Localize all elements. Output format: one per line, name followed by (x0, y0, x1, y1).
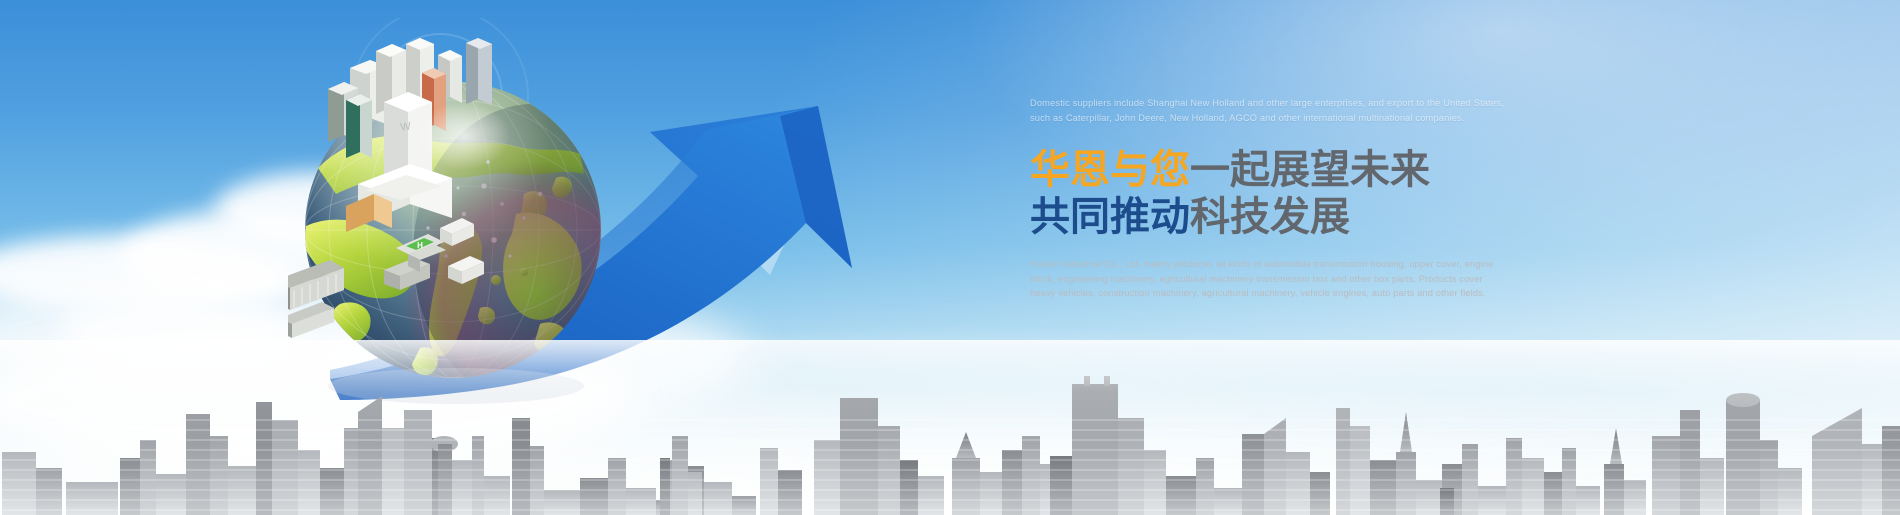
headline-line2-navy: 共同推动 (1030, 194, 1190, 240)
headline: 华恩与您一起展望未来 共同推动科技发展 (1030, 147, 1510, 241)
kicker-paragraph: Domestic suppliers include Shanghai New … (1030, 96, 1510, 125)
banner-copy-block: Domestic suppliers include Shanghai New … (1030, 96, 1510, 301)
headline-line1-accent: 华恩与您 (1030, 147, 1190, 193)
headline-line1-rest: 一起展望未来 (1190, 147, 1430, 193)
headline-line-2: 共同推动科技发展 (1030, 194, 1510, 241)
headline-line2-rest: 科技发展 (1190, 194, 1350, 240)
light-flare (418, 102, 510, 170)
city-skyline-graphic (0, 340, 1900, 515)
hero-banner: W H (0, 0, 1900, 515)
body-paragraph: Hua'en Industrial Co., Ltd. mainly produ… (1030, 257, 1500, 301)
headline-line-1: 华恩与您一起展望未来 (1030, 147, 1510, 194)
